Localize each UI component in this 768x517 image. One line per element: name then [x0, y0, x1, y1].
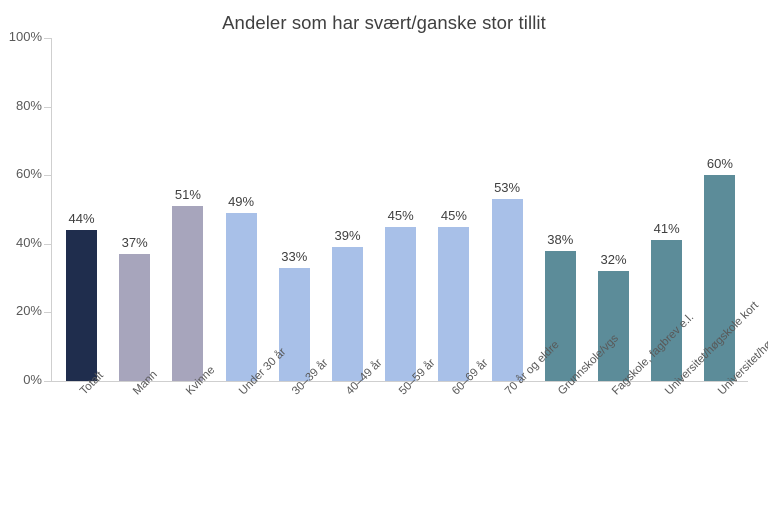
bar[interactable]	[438, 227, 469, 381]
y-axis-line	[51, 38, 52, 382]
y-axis-tick-label: 100%	[0, 29, 42, 44]
bar-value-label: 38%	[530, 232, 590, 247]
bar[interactable]	[66, 230, 97, 381]
y-axis-tick-label: 20%	[0, 303, 42, 318]
bar-value-label: 49%	[211, 194, 271, 209]
bar[interactable]	[279, 268, 310, 381]
y-axis-tick-label: 40%	[0, 235, 42, 250]
bar[interactable]	[332, 247, 363, 381]
bar[interactable]	[385, 227, 416, 381]
bar[interactable]	[226, 213, 257, 381]
bar-value-label: 51%	[158, 187, 218, 202]
y-axis-tick	[44, 38, 51, 39]
y-axis-tick	[44, 381, 51, 382]
y-axis-tick-label: 0%	[0, 372, 42, 387]
bar-value-label: 37%	[105, 235, 165, 250]
bar[interactable]	[545, 251, 576, 381]
bar[interactable]	[492, 199, 523, 381]
bar[interactable]	[598, 271, 629, 381]
y-axis-tick	[44, 244, 51, 245]
bar-value-label: 32%	[584, 252, 644, 267]
bar-value-label: 41%	[637, 221, 697, 236]
bar-value-label: 45%	[424, 208, 484, 223]
y-axis-tick	[44, 312, 51, 313]
bar[interactable]	[119, 254, 150, 381]
y-axis-tick-label: 60%	[0, 166, 42, 181]
chart-title: Andeler som har svært/ganske stor tillit	[0, 12, 768, 34]
bar-value-label: 60%	[690, 156, 750, 171]
bar-value-label: 53%	[477, 180, 537, 195]
bar-value-label: 33%	[264, 249, 324, 264]
y-axis-tick	[44, 175, 51, 176]
bar-value-label: 45%	[371, 208, 431, 223]
y-axis-tick-label: 80%	[0, 98, 42, 113]
bar-chart: Andeler som har svært/ganske stor tillit…	[0, 0, 768, 517]
bar[interactable]	[172, 206, 203, 381]
bar-value-label: 39%	[318, 228, 378, 243]
bar-value-label: 44%	[52, 211, 112, 226]
y-axis-tick	[44, 107, 51, 108]
